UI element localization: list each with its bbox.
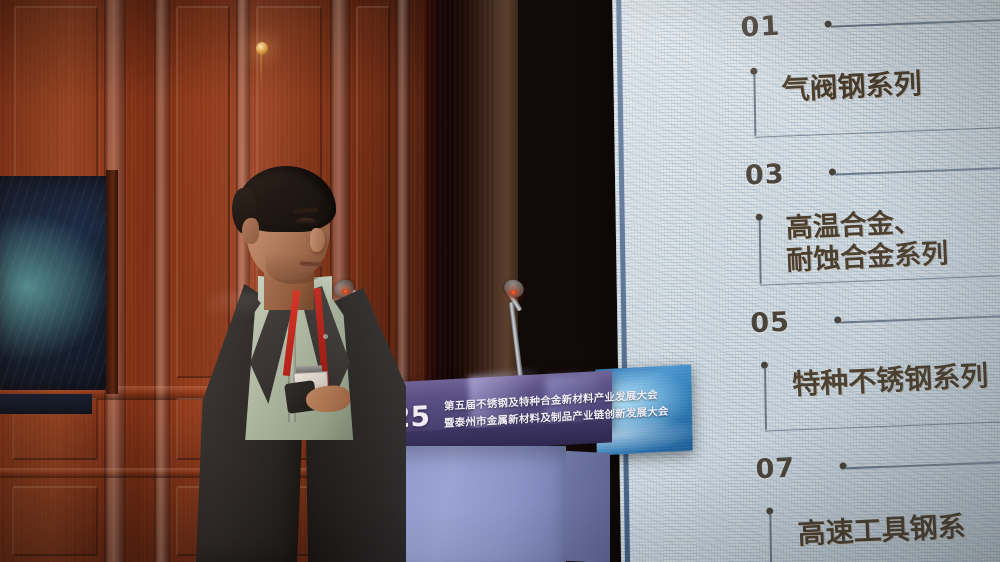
presentation-led-screen: 01 气阀钢系列 03 高温合金、 耐蚀合金系列 0 (612, 0, 1000, 562)
slide-item-number: 07 (755, 453, 796, 486)
slide-item-label: 高速工具钢系 (797, 510, 966, 551)
slide-content: 01 气阀钢系列 03 高温合金、 耐蚀合金系列 0 (612, 0, 1000, 562)
slide-item-leader-line (846, 461, 1000, 469)
wall-panel (176, 6, 230, 378)
slide-item-leader-line (840, 315, 1000, 323)
slide-item-connector (764, 368, 766, 430)
sconce-cord (260, 52, 262, 88)
slide-item-connector (753, 74, 755, 136)
speaker-jacket-pin (323, 334, 328, 339)
speaker-nose (310, 228, 325, 252)
slide-item-underline (765, 421, 1000, 432)
podium-body-side (566, 451, 610, 562)
speaker-eye (296, 218, 316, 225)
conference-photo-scene: 01 气阀钢系列 03 高温合金、 耐蚀合金系列 0 (0, 0, 1000, 562)
wall-panel (12, 486, 98, 556)
slide-item-number: 05 (750, 307, 791, 340)
mic-right-indicator (510, 290, 517, 295)
speaker-ear (242, 218, 259, 244)
mic-left-indicator (342, 289, 349, 294)
slide-item-leader-line (835, 167, 1000, 175)
slide-item-connector (759, 220, 762, 284)
slide-item-connector (769, 514, 771, 562)
podium-body-front (386, 446, 566, 562)
slide-item-underline (754, 127, 1000, 138)
slide-item-leader-line (831, 19, 1000, 27)
slide-item-number: 01 (740, 11, 781, 44)
speaker-chin-shadow (266, 252, 324, 284)
slide-item-label: 特种不锈钢系列 (792, 359, 989, 401)
slide-item-label: 气阀钢系列 (781, 67, 922, 106)
left-monitor-bezel (106, 170, 118, 394)
left-monitor-base (0, 394, 92, 414)
slide-item-number: 03 (744, 159, 785, 192)
wall-sconce-light (256, 42, 268, 55)
slide-item-label-secondary: 耐蚀合金系列 (786, 238, 949, 277)
left-wall-monitor (0, 176, 112, 390)
